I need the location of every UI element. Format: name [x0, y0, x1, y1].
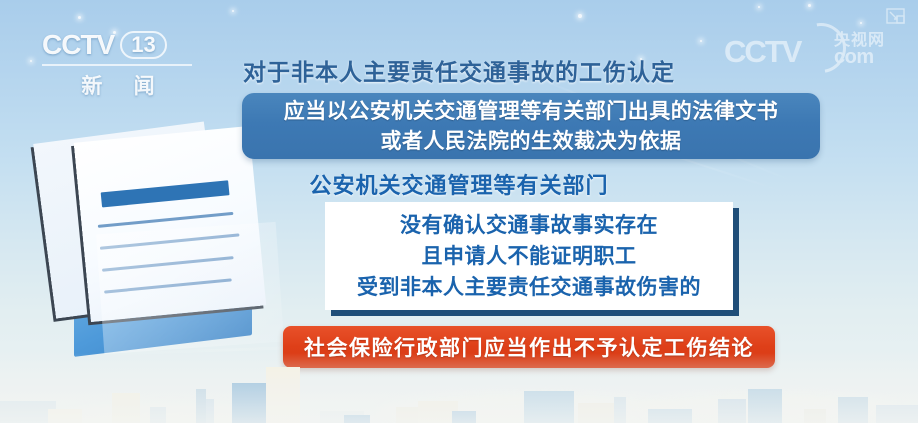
blue-box-line: 或者人民法院的生效裁决为依据	[381, 126, 682, 156]
white-card-line: 没有确认交通事故事实存在	[400, 210, 658, 241]
white-card-line: 受到非本人主要责任交通事故伤害的	[357, 272, 701, 303]
sparkle-icon	[78, 16, 81, 19]
conditions-white-card: 没有确认交通事故事实存在 且申请人不能证明职工 受到非本人主要责任交通事故伤害的	[325, 202, 733, 310]
sparkle-icon	[578, 14, 582, 18]
sparkle-icon	[232, 10, 234, 12]
section-subheading: 公安机关交通管理等有关部门	[0, 168, 918, 200]
restore-window-icon[interactable]	[886, 8, 908, 26]
atmospheric-haze	[0, 353, 918, 423]
page-title: 对于非本人主要责任交通事故的工伤认定	[0, 53, 918, 87]
city-skyline-graphic	[0, 333, 918, 423]
white-card-line: 且申请人不能证明职工	[422, 241, 637, 272]
sparkle-icon	[700, 40, 702, 42]
blue-box-line: 应当以公安机关交通管理等有关部门出具的法律文书	[284, 96, 779, 126]
sparkle-icon	[860, 22, 862, 24]
sparkle-icon	[808, 4, 811, 7]
sparkle-icon	[758, 6, 760, 8]
broadcast-screen: CCTV 13 新 闻 CCTV 央视网 com	[0, 0, 918, 423]
blue-statement-box: 应当以公安机关交通管理等有关部门出具的法律文书 或者人民法院的生效裁决为依据	[242, 93, 820, 159]
